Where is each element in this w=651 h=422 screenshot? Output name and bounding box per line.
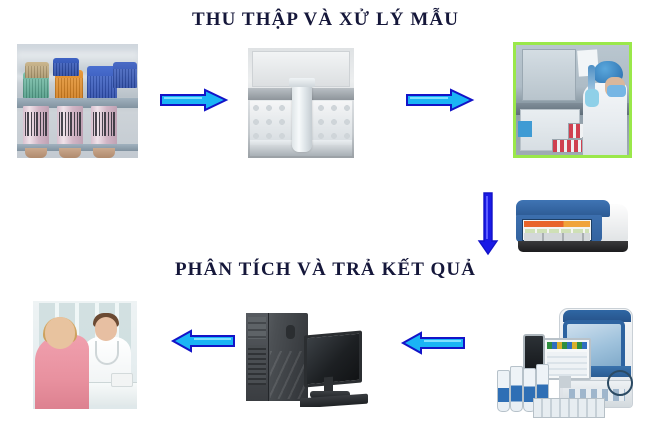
- computer-scene: [236, 307, 372, 407]
- arrow-technician-to-cycler: [477, 193, 499, 255]
- desk-phone-icon: [111, 373, 133, 387]
- server-drive-bays: [248, 317, 266, 339]
- monitor-screen: [304, 330, 362, 387]
- tube-bottom-2: [59, 148, 81, 158]
- arrow-computer-to-consult: [173, 330, 235, 352]
- sample-rack-scene: [248, 48, 354, 158]
- rack-center-tube: [292, 80, 312, 152]
- image-server-and-workstation: [236, 307, 372, 407]
- analyzer-tubing-coil: [607, 370, 633, 396]
- technician-face-mask-icon: [607, 85, 626, 97]
- analyzer-consumables-tray: [533, 398, 605, 418]
- image-thermal-cycler: [510, 198, 630, 252]
- tube-cap-blue-rear: [113, 62, 137, 88]
- technician-blue-box: [518, 121, 532, 137]
- consultation-scene: [33, 301, 137, 409]
- tube-bottom-1: [25, 148, 47, 158]
- arrow-tubes-to-rack: [161, 89, 227, 111]
- analyzer-scene: [497, 300, 639, 418]
- stethoscope-icon: [95, 341, 119, 365]
- sample-tubes-scene: [17, 44, 138, 158]
- technician-gloved-hand: [585, 89, 599, 107]
- doctor-face: [95, 317, 117, 341]
- server-side-vents: [270, 351, 306, 399]
- tube-body-3: [91, 106, 117, 148]
- server-badge: [286, 325, 295, 339]
- server-front-grill: [248, 345, 266, 385]
- rack-center-tube-collar: [289, 78, 315, 87]
- patient-head: [45, 317, 75, 349]
- arrow-analyzer-to-computer: [403, 332, 465, 354]
- image-automated-analyzer: [497, 300, 639, 418]
- analyzer-monitor-stand: [559, 376, 571, 388]
- thermal-cycler-scene: [510, 198, 630, 252]
- lab-technician-scene: [516, 45, 629, 155]
- section-title-sample-collection: THU THẬP VÀ XỬ LÝ MẪU: [0, 9, 651, 31]
- arrow-rack-to-technician: [407, 89, 473, 111]
- image-sample-rack: [248, 48, 354, 158]
- reagent-bottle: [497, 370, 510, 412]
- image-lab-technician: [513, 42, 632, 158]
- tube-bottom-3: [93, 148, 115, 158]
- tube-cap-blue-back: [53, 58, 79, 76]
- tube-body-1: [23, 106, 49, 148]
- image-sample-tubes: [17, 44, 138, 158]
- tube-body-2: [57, 106, 83, 148]
- section-title-analysis-results: PHÂN TÍCH VÀ TRẢ KẾT QUẢ: [0, 259, 651, 281]
- technician-wall-panel: [522, 49, 576, 101]
- workflow-diagram: THU THẬP VÀ XỬ LÝ MẪU: [0, 0, 651, 422]
- image-doctor-patient-consultation: [33, 301, 137, 409]
- cycler-base: [518, 241, 628, 252]
- reagent-bottle: [510, 366, 523, 412]
- tube-cap-tan: [25, 62, 49, 78]
